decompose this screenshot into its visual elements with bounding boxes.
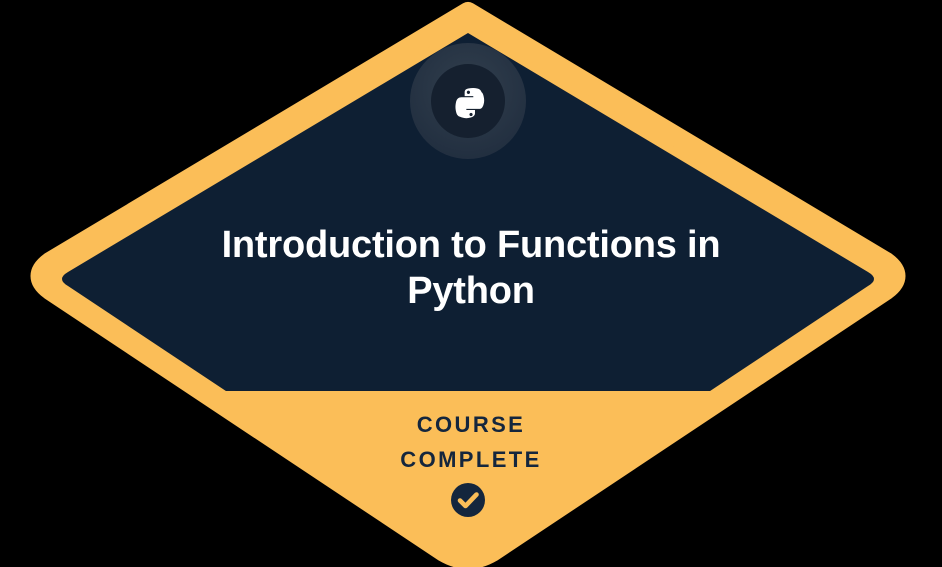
check-circle-icon: [451, 483, 485, 517]
badge-graphic: [0, 0, 942, 567]
python-emblem: [410, 43, 526, 159]
course-completion-badge: Introduction to Functions in Python COUR…: [0, 0, 942, 567]
